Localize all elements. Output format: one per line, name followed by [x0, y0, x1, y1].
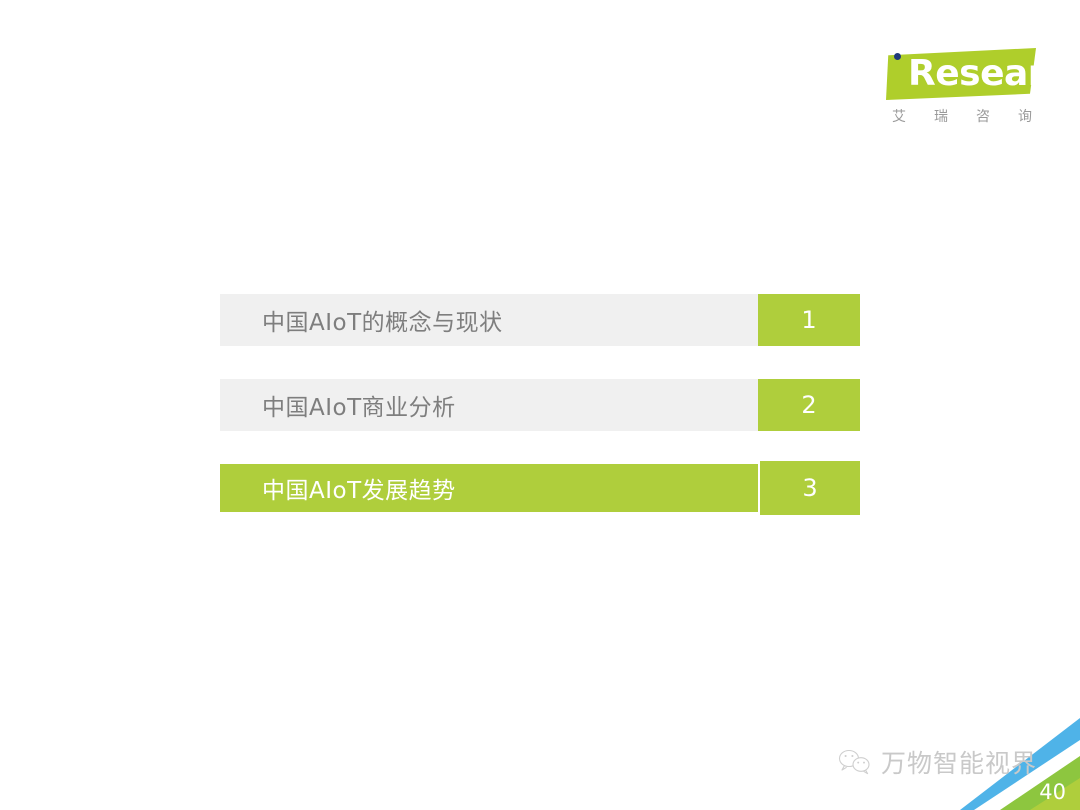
wechat-icon: [838, 748, 872, 776]
iresearch-logo: Research 艾 瑞 咨 询: [886, 48, 1036, 132]
logo-wordmark: Research: [908, 52, 1080, 96]
agenda-item-1[interactable]: 中国AIoT的概念与现状 1: [220, 294, 860, 346]
wechat-account-name: 万物智能视界: [881, 744, 1037, 780]
slide-canvas: Research 艾 瑞 咨 询 中国AIoT的概念与现状 1 中国AIoT商业…: [0, 0, 1080, 810]
logo-subtitle-char-4: 询: [1018, 106, 1032, 126]
logo-mark: Research: [886, 48, 1036, 100]
logo-subtitle-char-3: 咨: [976, 106, 990, 126]
logo-subtitle-char-2: 瑞: [934, 106, 948, 126]
agenda-item-2-number: 2: [758, 379, 860, 431]
agenda-list: 中国AIoT的概念与现状 1 中国AIoT商业分析 2 中国AIoT发展趋势 3: [220, 294, 860, 512]
agenda-item-1-label: 中国AIoT的概念与现状: [220, 294, 758, 346]
logo-subtitle-char-1: 艾: [892, 106, 906, 126]
logo-letter-i-dot: [894, 53, 901, 60]
page-number: 40: [1039, 780, 1066, 804]
wechat-watermark: 万物智能视界: [838, 744, 1037, 780]
agenda-item-1-number: 1: [758, 294, 860, 346]
logo-letter-i-stem: [894, 64, 901, 94]
logo-subtitle: 艾 瑞 咨 询: [892, 106, 1032, 126]
agenda-item-3[interactable]: 中国AIoT发展趋势 3: [220, 464, 860, 512]
agenda-item-3-number: 3: [758, 461, 860, 515]
agenda-item-2-label: 中国AIoT商业分析: [220, 379, 758, 431]
agenda-item-2[interactable]: 中国AIoT商业分析 2: [220, 379, 860, 431]
agenda-item-3-label: 中国AIoT发展趋势: [220, 464, 758, 512]
